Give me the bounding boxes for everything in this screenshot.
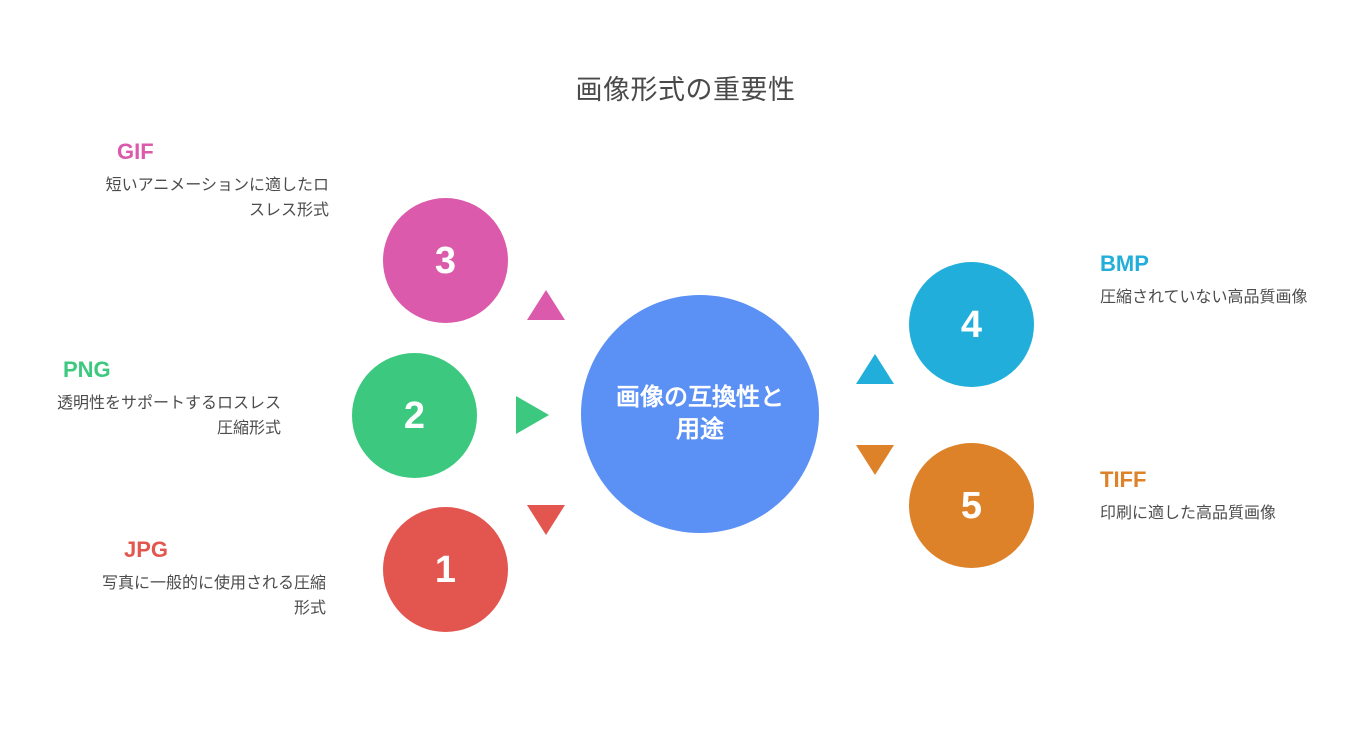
info-block-bmp: BMP 圧縮されていない高品質画像 [1100, 252, 1324, 311]
info-title-tiff: TIFF [1100, 468, 1324, 492]
node-circle-4[interactable]: 4 [909, 262, 1034, 387]
info-description-jpg: 写真に一般的に使用される圧縮形式 [102, 572, 326, 622]
center-hub-circle[interactable]: 画像の互換性と 用途 [581, 295, 819, 533]
center-hub-label: 画像の互換性と 用途 [600, 382, 800, 447]
node-number-3: 3 [435, 242, 456, 280]
node-circle-3[interactable]: 3 [383, 198, 508, 323]
node-circle-1[interactable]: 1 [383, 507, 508, 632]
info-title-bmp: BMP [1100, 252, 1324, 276]
triangle-right-icon [516, 396, 549, 434]
node-circle-5[interactable]: 5 [909, 443, 1034, 568]
triangle-down-icon [527, 505, 565, 535]
info-title-jpg: JPG [102, 538, 326, 562]
info-description-tiff: 印刷に適した高品質画像 [1100, 502, 1324, 527]
info-block-png: PNG 透明性をサポートするロスレス圧縮形式 [57, 358, 281, 442]
info-block-tiff: TIFF 印刷に適した高品質画像 [1100, 468, 1324, 527]
diagram-canvas: 画像形式の重要性 画像の互換性と 用途 1 2 3 4 5 GIF 短いアニメー… [0, 0, 1371, 740]
info-description-bmp: 圧縮されていない高品質画像 [1100, 286, 1324, 311]
info-block-gif: GIF 短いアニメーションに適したロスレス形式 [105, 140, 329, 224]
page-title: 画像形式の重要性 [0, 68, 1371, 107]
info-description-gif: 短いアニメーションに適したロスレス形式 [105, 174, 329, 224]
node-number-5: 5 [961, 487, 982, 525]
info-title-png: PNG [57, 358, 281, 382]
triangle-down-icon [856, 445, 894, 475]
node-number-2: 2 [404, 397, 425, 435]
info-description-png: 透明性をサポートするロスレス圧縮形式 [57, 392, 281, 442]
node-number-1: 1 [435, 551, 456, 589]
triangle-up-icon [856, 354, 894, 384]
info-title-gif: GIF [105, 140, 329, 164]
triangle-up-icon [527, 290, 565, 320]
node-circle-2[interactable]: 2 [352, 353, 477, 478]
node-number-4: 4 [961, 306, 982, 344]
info-block-jpg: JPG 写真に一般的に使用される圧縮形式 [102, 538, 326, 622]
